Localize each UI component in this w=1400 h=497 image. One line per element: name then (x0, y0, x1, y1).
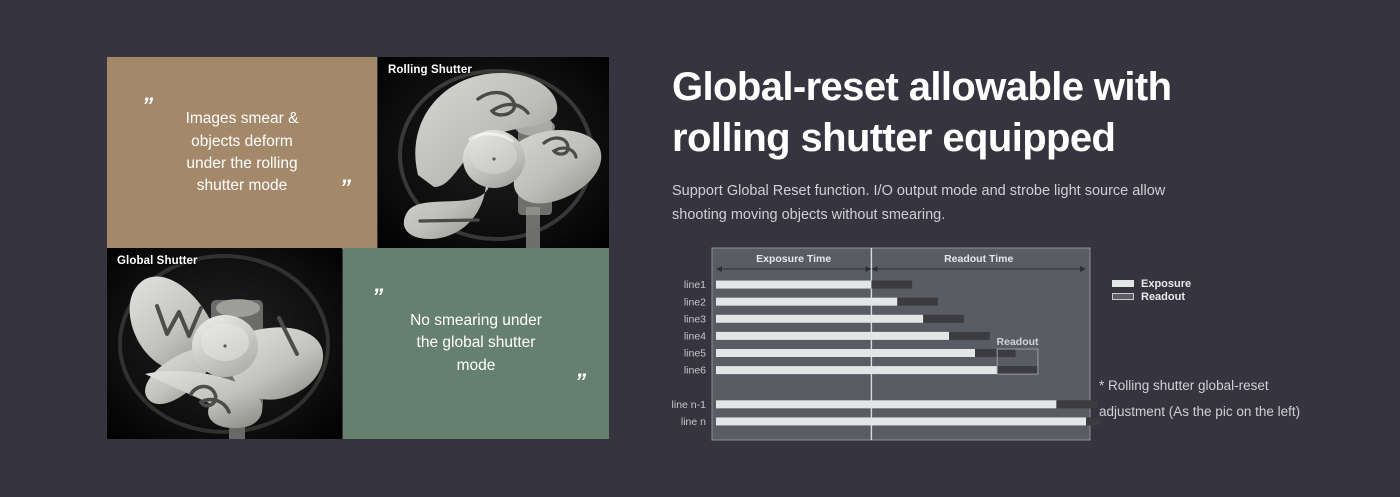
quote-close-mark: ” (575, 371, 585, 393)
rolling-shutter-timing-chart: Exposure TimeReadout Timeline1line2line3… (660, 246, 1100, 442)
category-label-4: line5 (684, 348, 706, 360)
readout-bar-3 (949, 332, 990, 340)
photo-frame-rolling: Rolling Shutter (378, 57, 609, 249)
photo-rolling-shutter: Rolling Shutter (378, 57, 609, 249)
chart-legend: Exposure Readout (1112, 277, 1191, 303)
category-label-7: line n-1 (672, 399, 707, 411)
chart-footnote: * Rolling shutter global-reset adjustmen… (1099, 373, 1314, 426)
page-subtitle: Support Global Reset function. I/O outpu… (672, 180, 1282, 228)
category-label-3: line4 (684, 330, 706, 342)
quote-text-global: No smearing under the global shutter mod… (370, 310, 583, 377)
category-label-2: line3 (684, 313, 706, 325)
exposure-bar-0 (716, 281, 871, 289)
fan-rolling-illustration (378, 57, 609, 249)
fan-global-illustration (107, 248, 342, 439)
quote-open-mark: ” (142, 95, 152, 117)
quote-close-mark: ” (340, 177, 350, 199)
axis-header-label-0: Exposure Time (756, 253, 831, 265)
exposure-bar-7 (716, 400, 1056, 408)
category-label-0: line1 (684, 279, 706, 291)
quote-open-mark: ” (372, 286, 382, 308)
exposure-bar-5 (716, 366, 997, 374)
readout-bar-2 (923, 315, 964, 323)
quote-panel-green: ” No smearing under the global shutter m… (343, 248, 609, 439)
exposure-swatch-icon (1112, 280, 1134, 287)
readout-bar-1 (897, 298, 938, 306)
readout-bar-0 (871, 281, 912, 289)
quote-panel-tan: ” Images smear & objects deform under th… (107, 57, 377, 249)
photo-frame-global: Global Shutter (107, 248, 342, 439)
photo-label-rolling: Rolling Shutter (388, 64, 472, 76)
chart-canvas: Exposure TimeReadout Timeline1line2line3… (660, 246, 1100, 442)
exposure-bar-2 (716, 315, 923, 323)
axis-header-label-1: Readout Time (944, 253, 1013, 265)
legend-label-exposure: Exposure (1141, 278, 1191, 290)
category-label-5: line6 (684, 365, 706, 377)
quote-card-rolling: ” Images smear & objects deform under th… (107, 57, 377, 249)
photo-label-global: Global Shutter (117, 255, 198, 267)
readout-bar-7 (1056, 400, 1097, 408)
quote-card-global: ” No smearing under the global shutter m… (343, 248, 609, 439)
readout-bar-8 (1086, 417, 1100, 425)
legend-item-exposure: Exposure (1112, 277, 1191, 290)
exposure-bar-1 (716, 298, 897, 306)
category-label-1: line2 (684, 296, 706, 308)
exposure-bar-4 (716, 349, 975, 357)
image-quote-mosaic: ” Images smear & objects deform under th… (107, 57, 609, 439)
legend-label-readout: Readout (1141, 291, 1185, 303)
readout-swatch-icon (1112, 293, 1134, 300)
page-title: Global-reset allowable with rolling shut… (672, 62, 1272, 164)
quote-text-rolling: Images smear & objects deform under the … (134, 108, 350, 198)
readout-callout-label: Readout (997, 336, 1040, 348)
exposure-bar-8 (716, 417, 1086, 425)
exposure-bar-3 (716, 332, 949, 340)
photo-global-shutter: Global Shutter (107, 248, 342, 439)
category-label-8: line n (681, 416, 706, 428)
readout-bar-4 (975, 349, 1016, 357)
legend-item-readout: Readout (1112, 290, 1191, 303)
slide-root: ” Images smear & objects deform under th… (0, 0, 1400, 497)
readout-bar-5 (997, 366, 1038, 374)
